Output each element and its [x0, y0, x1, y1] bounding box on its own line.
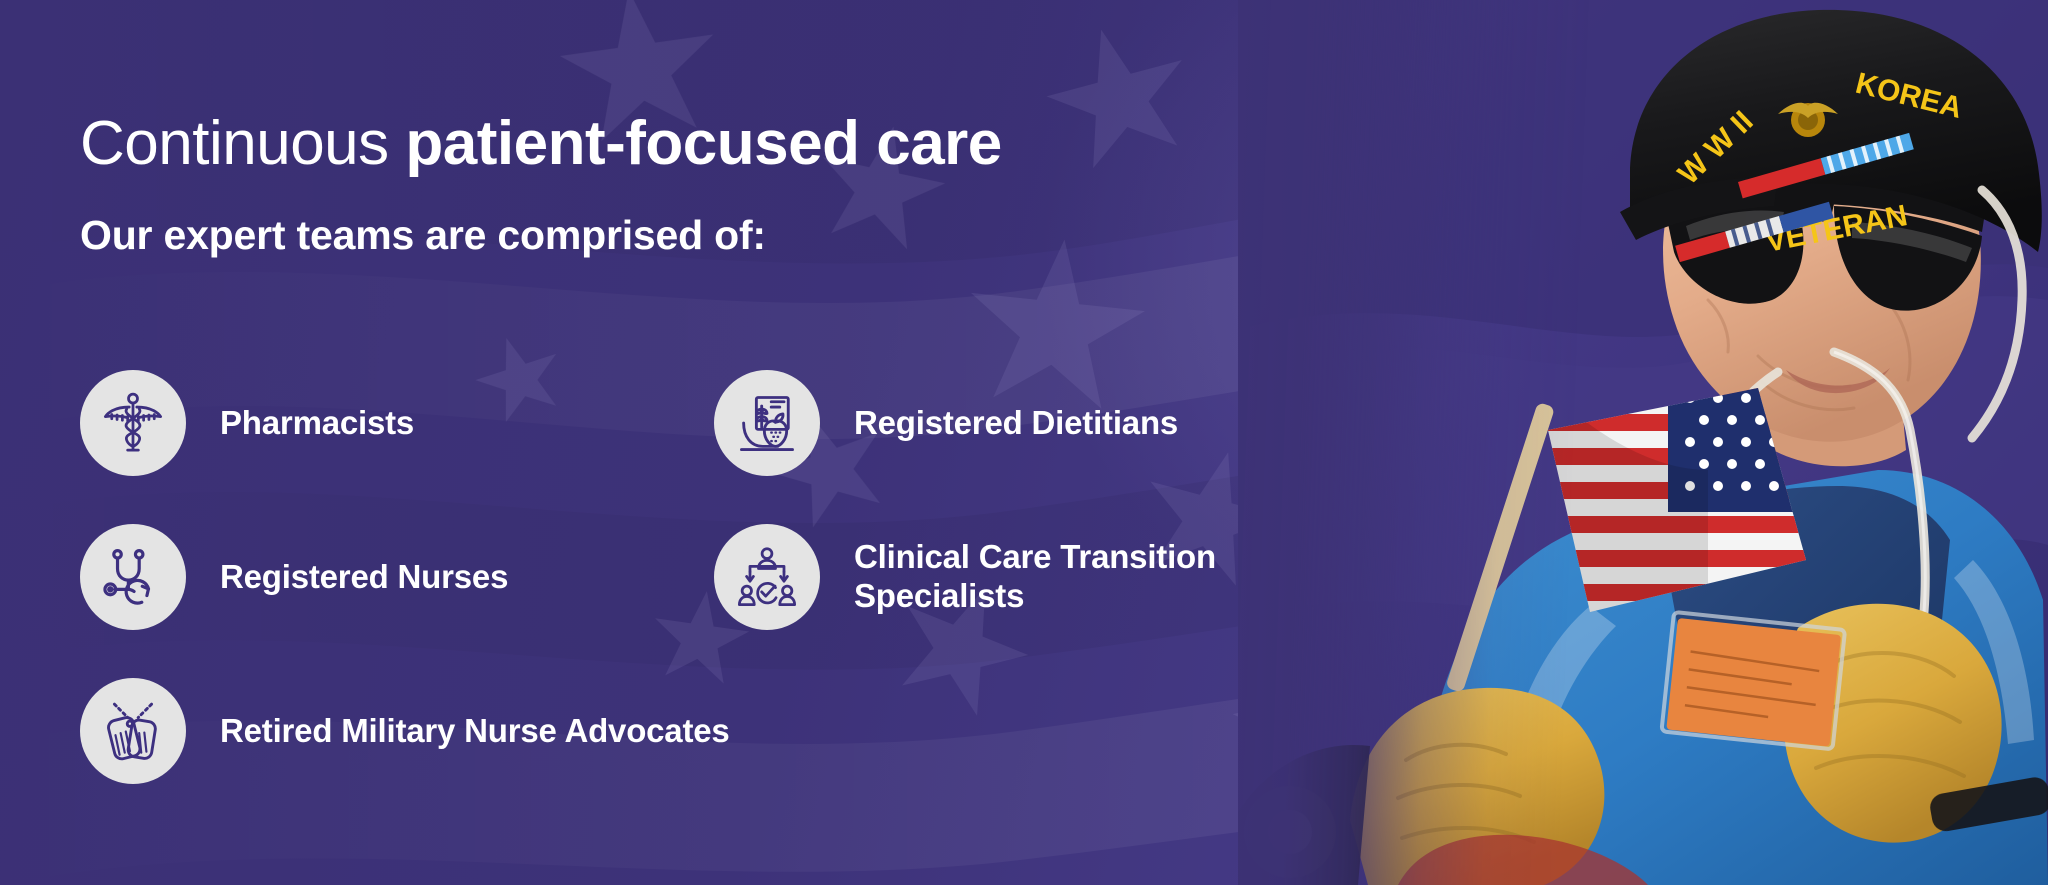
team-list-right-column: Registered Dietitians — [714, 370, 1216, 678]
list-item-label: Pharmacists — [220, 404, 414, 443]
list-item-registered-nurses[interactable]: Registered Nurses — [80, 524, 730, 630]
list-item-label: Registered Dietitians — [854, 404, 1178, 443]
patient-care-banner: W W II KOREA VETERAN — [0, 0, 2048, 885]
headings: Continuous patient-focused care Our expe… — [80, 112, 1002, 259]
title-bold-part: patient-focused care — [405, 109, 1001, 178]
dog-tags-icon — [80, 678, 186, 784]
title-light-part: Continuous — [80, 109, 389, 178]
list-item-label: Retired Military Nurse Advocates — [220, 712, 730, 751]
list-item-clinical-care-transition-specialists[interactable]: Clinical Care Transition Specialists — [714, 524, 1216, 630]
team-list-left-column: Pharmacists — [80, 370, 730, 832]
nutrition-icon — [714, 370, 820, 476]
stethoscope-icon — [80, 524, 186, 630]
page-subtitle: Our expert teams are comprised of: — [80, 212, 1002, 259]
list-item-label-line1: Clinical Care Transition — [854, 538, 1216, 575]
list-item-label: Registered Nurses — [220, 558, 508, 597]
page-title: Continuous patient-focused care — [80, 112, 1002, 176]
care-team-icon — [714, 524, 820, 630]
list-item-registered-dietitians[interactable]: Registered Dietitians — [714, 370, 1216, 476]
veteran-photo: W W II KOREA VETERAN — [1238, 0, 2048, 885]
list-item-label: Clinical Care Transition Specialists — [854, 538, 1216, 616]
list-item-pharmacists[interactable]: Pharmacists — [80, 370, 730, 476]
list-item-label-line2: Specialists — [854, 577, 1216, 616]
caduceus-icon — [80, 370, 186, 476]
list-item-retired-military-nurse-advocates[interactable]: Retired Military Nurse Advocates — [80, 678, 730, 784]
